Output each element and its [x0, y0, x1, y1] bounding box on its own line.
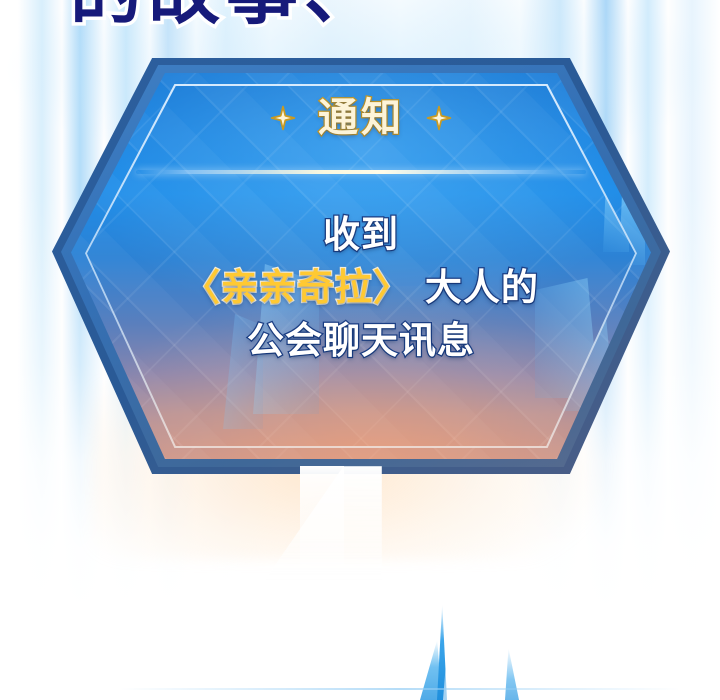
sparkle-icon	[270, 105, 296, 131]
white-wedge-under-panel-secondary	[300, 466, 344, 616]
page-title: 通知	[318, 98, 404, 138]
sender-name: 〈亲亲奇拉〉	[183, 266, 411, 309]
notice-body: 收到 〈亲亲奇拉〉 大人的 公会聊天讯息	[52, 208, 670, 367]
notice-line-1: 收到	[52, 208, 670, 261]
sparkle-icon	[426, 105, 452, 131]
panel-title-row: 通知	[52, 98, 670, 138]
panel-content: 通知 收到 〈亲亲奇拉〉 大人的 公会聊天讯息	[52, 58, 670, 474]
cropped-overlay-text: 的故事、	[70, 0, 382, 28]
notice-line-2: 〈亲亲奇拉〉 大人的	[52, 261, 670, 314]
notice-line-2-suffix: 大人的	[411, 266, 539, 309]
bottom-divider-line	[120, 688, 680, 690]
screen: 的故事、	[0, 0, 720, 700]
title-divider	[136, 170, 586, 174]
notice-line-3: 公会聊天讯息	[52, 314, 670, 367]
notice-panel: 通知 收到 〈亲亲奇拉〉 大人的 公会聊天讯息	[52, 58, 670, 474]
